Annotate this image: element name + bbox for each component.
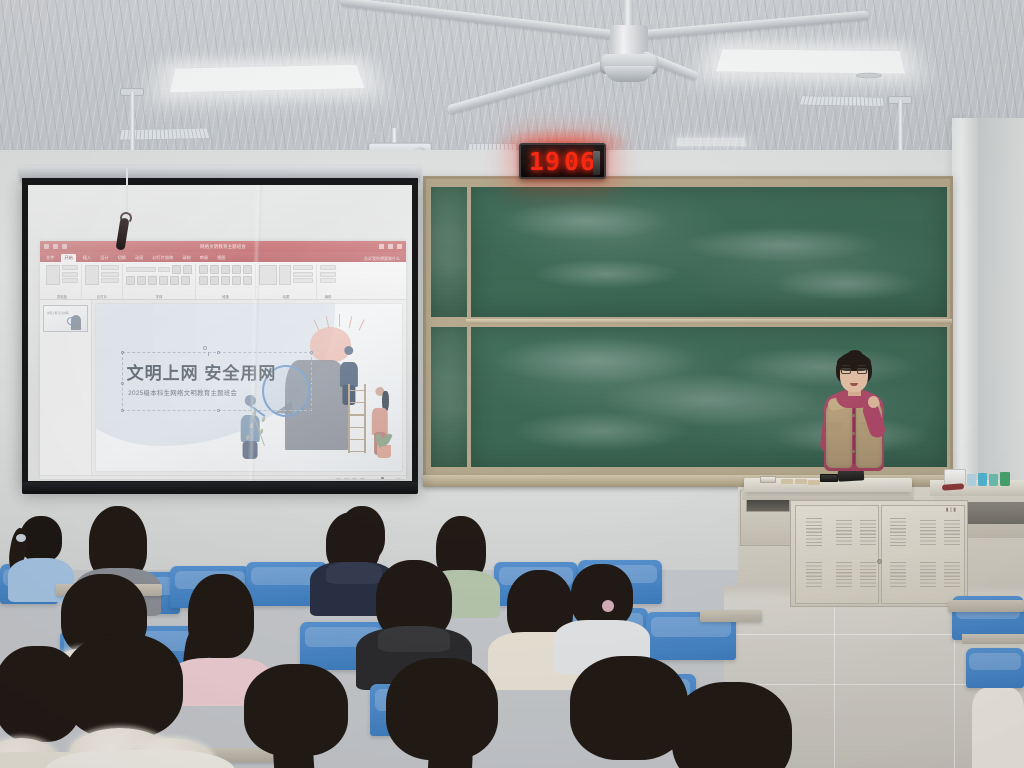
tab-record[interactable]: 录制 (180, 255, 192, 262)
reading-view-icon[interactable] (352, 478, 357, 480)
slide-thumbnail-1[interactable]: 文明上网 安全用网 (43, 305, 88, 332)
replace-icon[interactable] (320, 272, 336, 277)
clock-side-panel (593, 151, 600, 175)
projection-screen: 网络文明教育主题班会 文件 开始 插入 设计 切换 动画 幻灯片放映 (22, 178, 418, 488)
ribbon-group-drawing[interactable]: 绘图 (256, 264, 317, 299)
strikethrough-icon[interactable] (170, 276, 179, 285)
shrink-font-icon[interactable] (183, 265, 192, 274)
projection-screen-surface: 网络文明教育主题班会 文件 开始 插入 设计 切换 动画 幻灯片放映 (28, 185, 412, 481)
powerpoint-window[interactable]: 网络文明教育主题班会 文件 开始 插入 设计 切换 动画 幻灯片放映 (40, 241, 406, 479)
panel-light-far (675, 138, 747, 147)
slide-thumbnail-pane[interactable]: 文明上网 安全用网 (40, 300, 92, 475)
tell-me-search-input[interactable]: 告诉我你想要做什么 (364, 256, 402, 262)
grow-font-icon[interactable] (172, 265, 181, 274)
desk (962, 634, 1024, 644)
zoom-slider-knob[interactable] (381, 477, 384, 479)
underline-icon[interactable] (148, 276, 157, 285)
console-lock-icon[interactable] (877, 559, 882, 564)
illustration-ladder (348, 384, 366, 452)
chalkboard-panel-left-top (431, 187, 467, 317)
layout-icon[interactable] (101, 265, 119, 270)
student (972, 688, 1024, 768)
desk (700, 610, 762, 622)
shape-effects-icon[interactable] (293, 278, 313, 283)
student (52, 634, 222, 768)
shape-fill-icon[interactable] (293, 265, 313, 270)
slide-rotate-handle[interactable] (203, 346, 207, 350)
console-brand-label: ▮▯▮ (946, 507, 957, 513)
projection-screen-weight-bar (22, 482, 418, 494)
ribbon-group-clipboard[interactable]: 剪贴板 (43, 264, 82, 299)
ribbon[interactable]: 剪贴板 幻灯片 (40, 262, 406, 300)
reset-icon[interactable] (101, 272, 119, 277)
chalk-eraser[interactable] (760, 476, 776, 483)
select-icon[interactable] (320, 278, 336, 283)
tab-animations[interactable]: 动画 (133, 255, 145, 262)
presenter-glasses-icon (841, 368, 867, 374)
slide-title: 文明上网 安全用网 (127, 359, 277, 384)
powerpoint-status-bar: 幻灯片 第 1 张，共 1 张 中文(中国) 备注 批注 66% (40, 475, 406, 479)
tab-design[interactable]: 设计 (98, 255, 110, 262)
chalkboard-panel-left-bottom (431, 327, 467, 467)
shapes-gallery-icon[interactable] (259, 265, 277, 285)
tab-slideshow[interactable]: 幻灯片放映 (150, 255, 175, 262)
line-spacing-icon[interactable] (243, 265, 252, 274)
section-icon[interactable] (101, 278, 119, 283)
panel-light-left (168, 64, 365, 93)
find-icon[interactable] (320, 265, 336, 270)
bottle-green[interactable] (1000, 472, 1010, 486)
paste-icon[interactable] (46, 265, 60, 285)
wall-pillar (952, 118, 978, 518)
powerpoint-title-bar: 网络文明教育主题班会 (40, 241, 406, 252)
ribbon-group-label: 字体 (126, 294, 192, 299)
font-size-select[interactable] (158, 267, 170, 272)
slideshow-icon[interactable] (360, 478, 365, 480)
close-icon[interactable] (397, 244, 402, 249)
new-slide-icon[interactable] (85, 265, 99, 285)
ribbon-group-label: 剪贴板 (46, 294, 78, 299)
student (376, 658, 526, 768)
decrease-indent-icon[interactable] (221, 265, 230, 274)
format-painter-icon[interactable] (62, 278, 78, 283)
presenter-hair-bun (848, 350, 862, 358)
illustration-plant (372, 425, 396, 458)
notes-button[interactable]: 备注 (317, 478, 324, 480)
language-indicator[interactable]: 中文(中国) (84, 478, 100, 480)
shadow-icon[interactable] (159, 276, 168, 285)
increase-indent-icon[interactable] (232, 265, 241, 274)
presenter-vest-pocket (828, 422, 842, 431)
numbering-icon[interactable] (210, 265, 219, 274)
chalk-stick[interactable] (781, 479, 793, 484)
shape-outline-icon[interactable] (293, 272, 313, 277)
chalkboard-divider-rail (466, 319, 952, 324)
ribbon-group-font[interactable]: 字体 (123, 264, 196, 299)
led-wall-clock: 19 06 (519, 143, 606, 179)
console-door-right[interactable] (881, 505, 965, 604)
current-slide[interactable]: 文明上网 安全用网 2025级本科生网络文明教育主题班会 (96, 304, 402, 471)
chalkboard-panel-top (471, 187, 947, 317)
student (232, 664, 372, 768)
save-icon[interactable] (44, 244, 49, 249)
bullets-icon[interactable] (199, 265, 208, 274)
console-door-left[interactable] (795, 505, 879, 604)
smoke-detector-icon (856, 73, 882, 79)
chalk-stick[interactable] (795, 479, 807, 484)
slide-rotate-stem (208, 352, 209, 356)
tab-review[interactable]: 审阅 (198, 255, 210, 262)
italic-icon[interactable] (137, 276, 146, 285)
copy-icon[interactable] (62, 272, 78, 277)
tab-insert[interactable]: 插入 (81, 255, 93, 262)
teacher-speaker (808, 352, 900, 492)
bottle-teal[interactable] (978, 473, 987, 486)
align-right-icon[interactable] (221, 276, 230, 285)
student (672, 682, 822, 768)
undo-icon[interactable] (53, 244, 58, 249)
justify-icon[interactable] (232, 276, 241, 285)
font-family-select[interactable] (126, 267, 156, 272)
bottle-light-blue[interactable] (967, 474, 976, 486)
font-color-icon[interactable] (181, 276, 190, 285)
bottle-green-teal[interactable] (989, 474, 998, 486)
ribbon-group-label: 编辑 (320, 294, 336, 299)
desk (948, 600, 1024, 612)
ceiling-fan (470, 0, 850, 96)
align-center-icon[interactable] (210, 276, 219, 285)
fan-downrod (624, 0, 633, 28)
ribbon-group-label: 段落 (199, 294, 252, 299)
ribbon-group-label: 幻灯片 (85, 294, 119, 299)
slide-thumbnail-title: 文明上网 安全用网 (47, 311, 68, 315)
seat[interactable] (966, 648, 1024, 688)
slide-counter: 幻灯片 第 1 张，共 1 张 (44, 478, 80, 480)
align-left-icon[interactable] (199, 276, 208, 285)
air-vent-right (799, 96, 885, 107)
ribbon-tabs[interactable]: 文件 开始 插入 设计 切换 动画 幻灯片放映 录制 审阅 视图 告诉我你想要做… (40, 252, 406, 262)
columns-icon[interactable] (243, 276, 252, 285)
presenter-vest-left (826, 402, 852, 468)
clock-minutes: 06 (564, 149, 596, 174)
bold-icon[interactable] (126, 276, 135, 285)
minimize-icon[interactable] (379, 244, 384, 249)
presenter-right-hand (868, 396, 879, 408)
fan-hub-cover (604, 66, 654, 82)
ribbon-group-label: 绘图 (259, 294, 313, 299)
cut-icon[interactable] (62, 265, 78, 270)
thumbnail-magnifier-icon (67, 317, 75, 325)
tab-home[interactable]: 开始 (61, 254, 75, 262)
slide-stage[interactable]: 文明上网 安全用网 2025级本科生网络文明教育主题班会 (92, 300, 406, 475)
restore-icon[interactable] (388, 244, 393, 249)
arrange-icon[interactable] (279, 265, 291, 285)
tab-transitions[interactable]: 切换 (116, 255, 128, 262)
illustration-sprig (240, 406, 275, 447)
powerpoint-workarea: 文明上网 安全用网 (40, 300, 406, 475)
redo-icon[interactable] (62, 244, 67, 249)
classroom-scene: 19 06 网络文明教育主题班会 (0, 0, 1024, 768)
document-title: 网络文明教育主题班会 (200, 244, 246, 250)
fan-blade (645, 10, 870, 39)
clock-hours: 19 (529, 149, 561, 174)
zoom-level[interactable]: 66% (395, 478, 402, 479)
comments-button[interactable]: 批注 (326, 478, 333, 480)
ribbon-group-editing[interactable]: 编辑 (317, 264, 339, 299)
window-controls[interactable] (379, 244, 402, 249)
ribbon-group-slides[interactable]: 幻灯片 (82, 264, 123, 299)
seated-students (0, 498, 760, 768)
normal-view-icon[interactable] (336, 478, 341, 480)
slide-subtitle: 2025级本科生网络文明教育主题班会 (128, 388, 237, 397)
tab-view[interactable]: 视图 (215, 255, 227, 262)
slide-sorter-icon[interactable] (344, 478, 349, 480)
tab-file[interactable]: 文件 (44, 255, 56, 262)
ribbon-group-paragraph[interactable]: 段落 (196, 264, 256, 299)
teaching-console-cabinet[interactable]: ▮▯▮ (790, 500, 968, 607)
